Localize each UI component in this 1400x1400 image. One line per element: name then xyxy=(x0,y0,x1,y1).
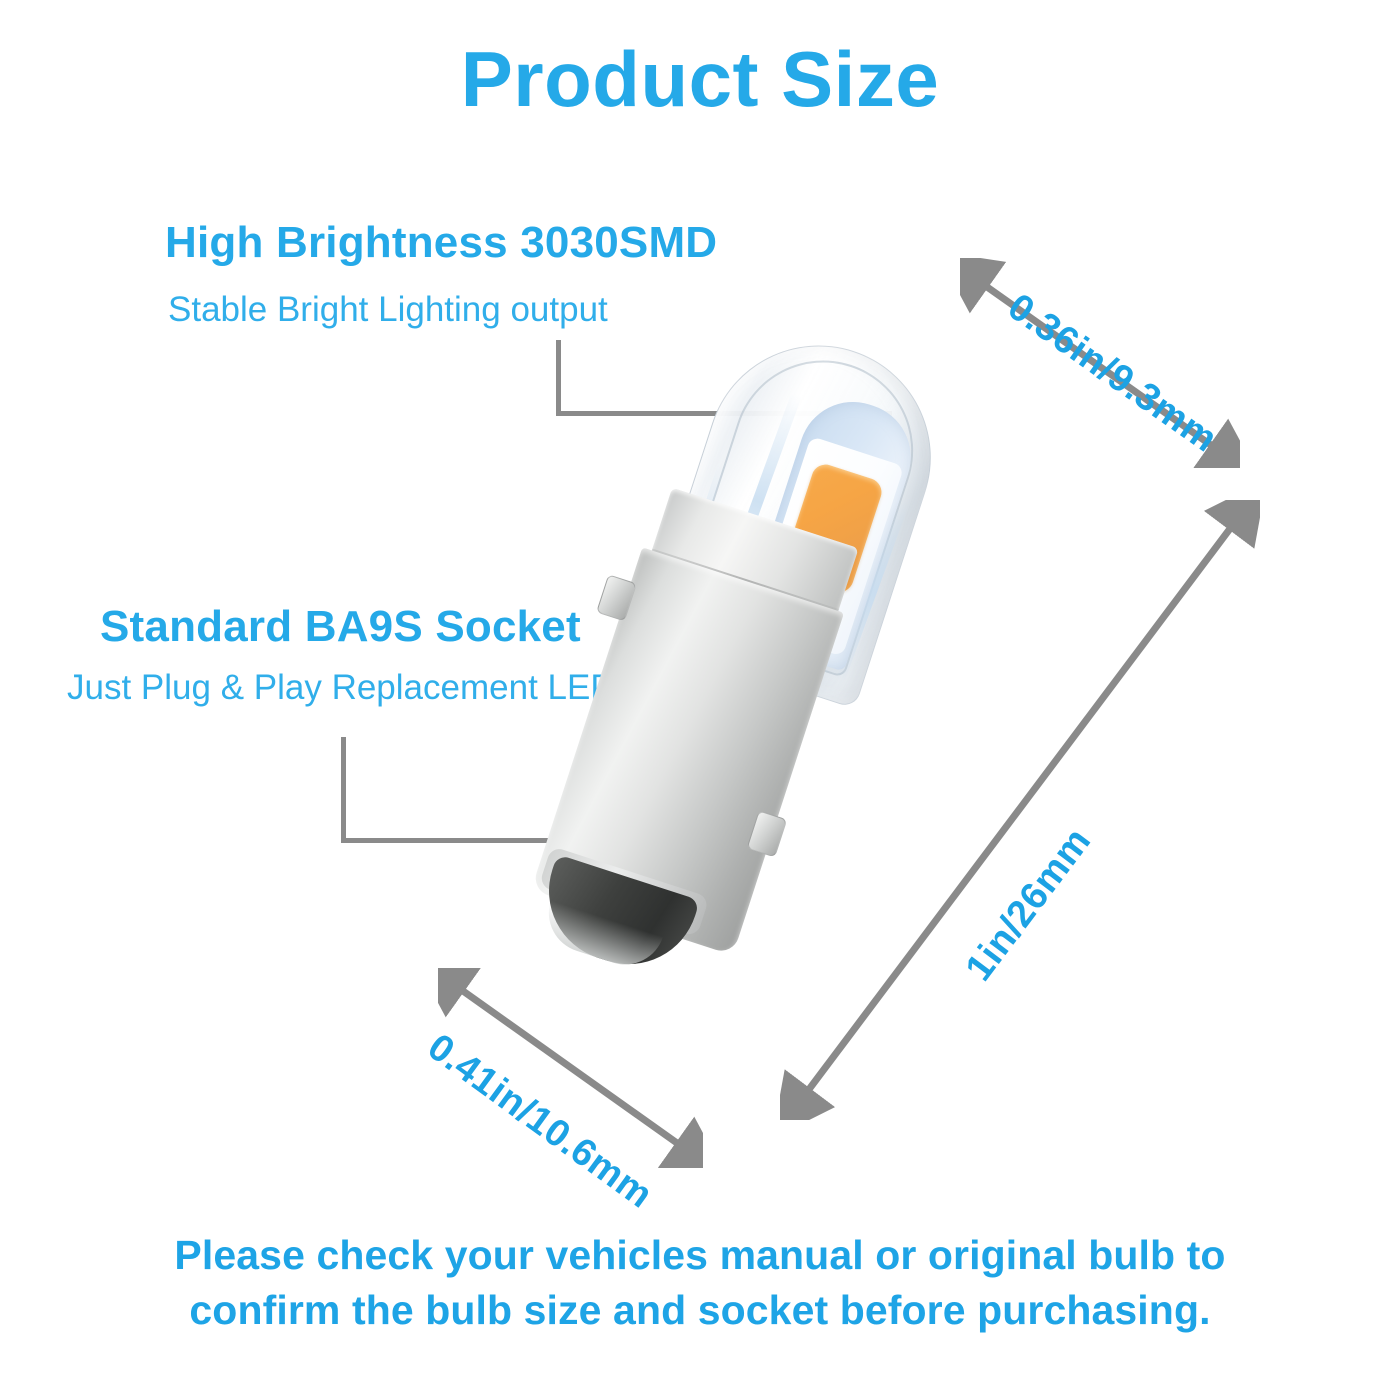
page-title: Product Size xyxy=(0,34,1400,125)
dimension-arrow-length xyxy=(780,500,1260,1120)
feature-heading-ba9s-socket: Standard BA9S Socket xyxy=(100,602,581,652)
purchase-warning-note: Please check your vehicles manual or ori… xyxy=(0,1228,1400,1337)
feature-subtext-high-brightness: Stable Bright Lighting output xyxy=(168,290,608,330)
warning-line-1: Please check your vehicles manual or ori… xyxy=(0,1228,1400,1283)
callout-leader-line-top-vertical xyxy=(556,340,561,416)
callout-leader-line-bottom-vertical xyxy=(341,737,346,843)
warning-line-2: confirm the bulb size and socket before … xyxy=(0,1283,1400,1338)
feature-heading-high-brightness: High Brightness 3030SMD xyxy=(165,218,717,268)
product-size-infographic: Product Size High Brightness 3030SMD Sta… xyxy=(0,0,1400,1400)
